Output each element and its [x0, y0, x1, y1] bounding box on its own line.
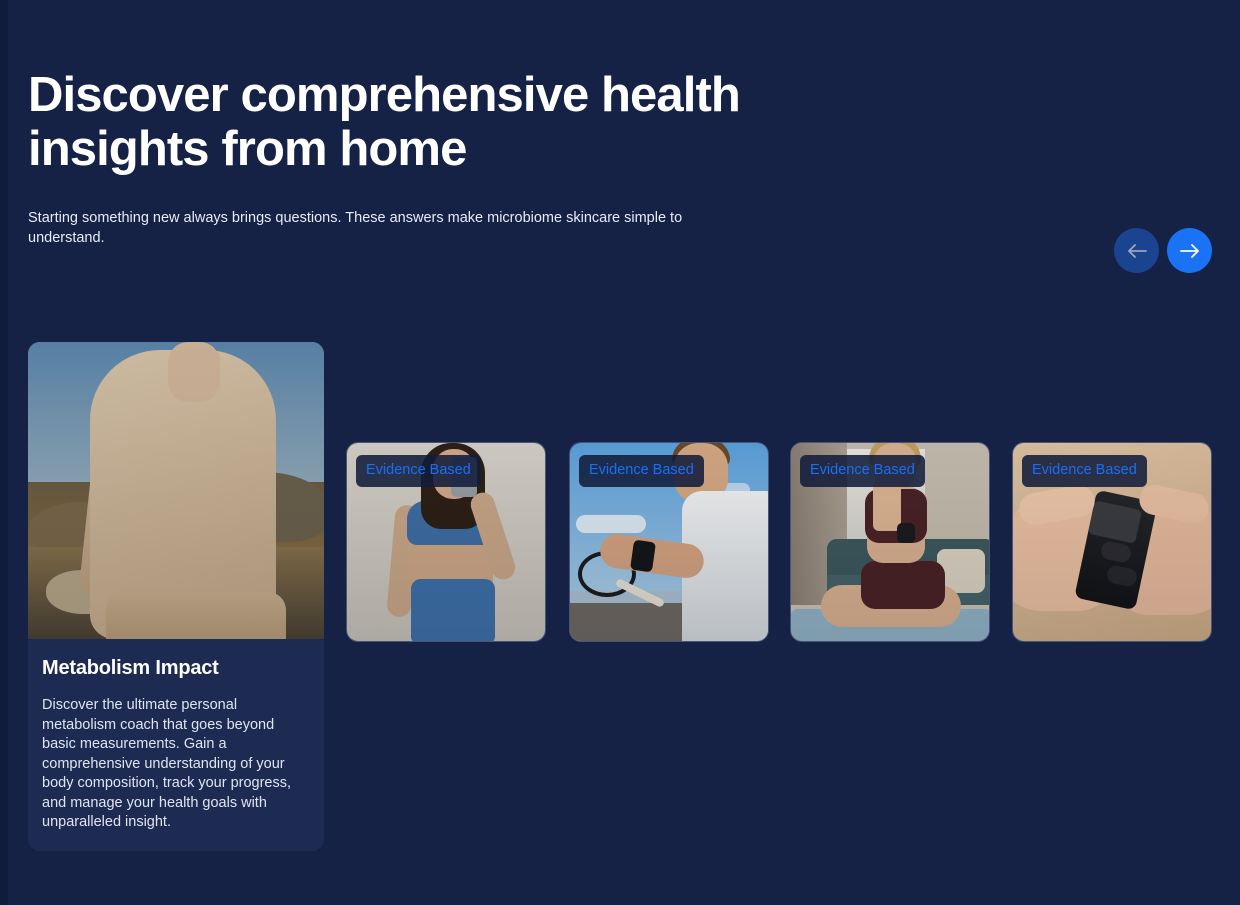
- evidence-based-badge: Evidence Based: [1022, 455, 1147, 487]
- featured-card-image: [28, 342, 324, 639]
- page-subtitle: Starting something new always brings que…: [28, 208, 698, 248]
- carousel-thumbnail-1[interactable]: Evidence Based: [346, 442, 546, 642]
- cloud: [576, 515, 646, 533]
- insights-carousel[interactable]: Metabolism Impact Discover the ultimate …: [28, 342, 1218, 854]
- carousel-next-button[interactable]: [1167, 228, 1212, 273]
- fitness-tracker-watch: [897, 523, 915, 543]
- left-edge-strip: [0, 0, 8, 905]
- carousel-thumbnail-2[interactable]: Evidence Based: [569, 442, 769, 642]
- fitness-tracker-watch: [630, 540, 656, 573]
- arrow-right-icon: [1179, 243, 1201, 259]
- carousel-prev-button[interactable]: [1114, 228, 1159, 273]
- carousel-thumbnail-4[interactable]: Evidence Based: [1012, 442, 1212, 642]
- featured-card-title: Metabolism Impact: [42, 657, 310, 680]
- featured-card-body: Metabolism Impact Discover the ultimate …: [28, 639, 324, 849]
- evidence-based-badge: Evidence Based: [579, 455, 704, 487]
- evidence-based-badge: Evidence Based: [356, 455, 481, 487]
- arrow-left-icon: [1126, 243, 1148, 259]
- page-title: Discover comprehensive health insights f…: [28, 68, 788, 176]
- featured-card-metabolism-impact[interactable]: Metabolism Impact Discover the ultimate …: [28, 342, 324, 850]
- featured-card-description: Discover the ultimate personal metabolis…: [42, 696, 310, 833]
- hero-header: Discover comprehensive health insights f…: [28, 68, 1212, 176]
- figure-leggings: [106, 592, 286, 639]
- subtitle-row: Starting something new always brings que…: [28, 208, 1212, 273]
- figure-shorts: [861, 561, 945, 609]
- carousel-thumbnail-3[interactable]: Evidence Based: [790, 442, 990, 642]
- figure-shorts: [411, 579, 495, 641]
- carousel-navigation: [1114, 228, 1212, 273]
- figure-neck: [168, 342, 220, 402]
- evidence-based-badge: Evidence Based: [800, 455, 925, 487]
